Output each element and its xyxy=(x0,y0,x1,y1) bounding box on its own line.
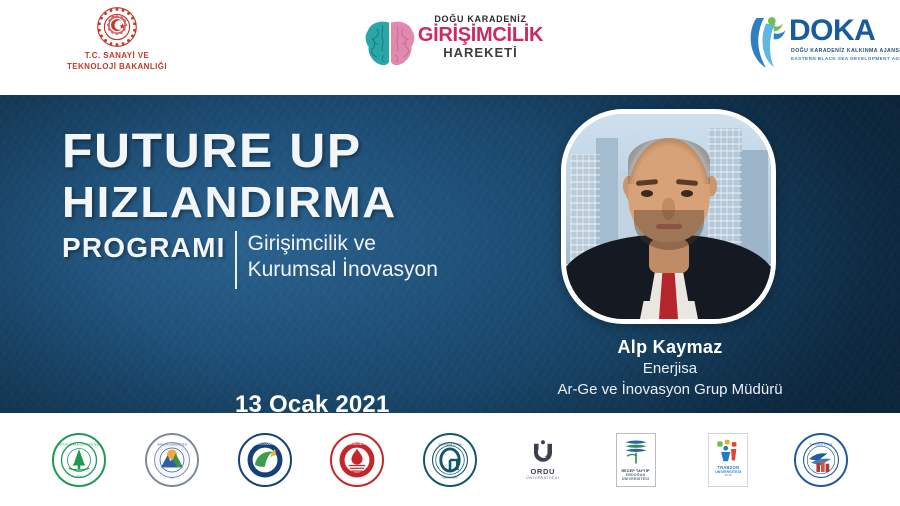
speaker-hairline xyxy=(628,138,710,184)
ordu-logo-stack: ORDU ÜNİVERSİTESİ xyxy=(526,439,559,481)
svg-text:GÜMÜŞHANE ÜNİ.: GÜMÜŞHANE ÜNİ. xyxy=(347,442,368,445)
event-details: 13 Ocak 2021 16:00-17:00 Başvuru: bit.ly… xyxy=(235,391,390,413)
speaker-eye-left xyxy=(641,190,653,197)
headline-line-1: FUTURE UP xyxy=(62,128,509,175)
seal-ring: AVRASYA ÜNİVERSİTESİ 2010 xyxy=(145,433,199,487)
event-banner: FUTURE UP HIZLANDIRMA PROGRAMI Girişimci… xyxy=(0,95,900,413)
ministry-logo: T.C. SANAYİ VE TEKNOLOJİ BAKANLIĞI xyxy=(42,6,192,90)
seal-ring: ARTVİN ÇORUH ÜNİVERSİTESİ 2007 xyxy=(52,433,106,487)
speaker-photo xyxy=(566,114,771,319)
logo-avrasya-universitesi: AVRASYA ÜNİVERSİTESİ 2010 xyxy=(141,429,203,491)
logo-artvin-coruh-universitesi: ARTVİN ÇORUH ÜNİVERSİTESİ 2007 xyxy=(48,429,110,491)
speaker-eye-right xyxy=(681,190,693,197)
speaker-mouth xyxy=(656,224,682,229)
rteu-line2: ERDOĞAN ÜNİVERSİTESİ xyxy=(617,473,655,482)
doka-logo: DOKA DOĞU KARADENİZ KALKINMA AJANSI EAST… xyxy=(745,12,885,78)
svg-text:ÜNİVERSİTESİ: ÜNİVERSİTESİ xyxy=(443,476,458,479)
partner-logos-strip: ARTVİN ÇORUH ÜNİVERSİTESİ 2007 AVRASYA Ü… xyxy=(0,413,900,506)
wave-torch-icon xyxy=(622,438,650,466)
seal-ring: GİRESUN ÜNİVERSİTESİ 2006 xyxy=(238,433,292,487)
program-subtitle-row: PROGRAMI Girişimcilik ve Kurumsal İnovas… xyxy=(62,231,492,289)
logo-recep-tayyip-erdogan-universitesi: RECEP TAYYİP ERDOĞAN ÜNİVERSİTESİ xyxy=(605,429,667,491)
logo-gumushane-universitesi: GÜMÜŞHANE ÜNİ. 2008 xyxy=(326,429,388,491)
headline-line-2: HIZLANDIRMA xyxy=(62,181,509,224)
svg-text:2008: 2008 xyxy=(355,477,361,479)
svg-text:2007: 2007 xyxy=(76,475,82,478)
ministry-logo-text: T.C. SANAYİ VE TEKNOLOJİ BAKANLIĞI xyxy=(67,51,167,73)
u-crescent-icon xyxy=(528,439,558,465)
svg-text:GİRESUN ÜNİVERSİTESİ: GİRESUN ÜNİVERSİTESİ xyxy=(249,440,279,445)
speaker-title: Ar-Ge ve İnovasyon Grup Müdürü xyxy=(470,380,870,400)
logo-ordu-universitesi: ORDU ÜNİVERSİTESİ xyxy=(512,429,574,491)
speaker-organization: Enerjisa xyxy=(470,359,870,379)
movement-wordmark: DOĞU KARADENİZ GİRİŞİMCİLİK HAREKETİ xyxy=(408,14,553,59)
logo-karadeniz-teknik-universitesi-alt: KARADENİZ TEKNİK xyxy=(790,429,852,491)
seal-ring: GÜMÜŞHANE ÜNİ. 2008 xyxy=(330,433,384,487)
svg-text:AVRASYA ÜNİVERSİTESİ: AVRASYA ÜNİVERSİTESİ xyxy=(157,441,187,446)
top-header-bar: T.C. SANAYİ VE TEKNOLOJİ BAKANLIĞI xyxy=(0,0,900,95)
vertical-divider xyxy=(235,231,237,289)
headline-line-3: PROGRAMI xyxy=(62,231,226,262)
doka-subtitle-tr: DOĞU KARADENİZ KALKINMA AJANSI xyxy=(791,48,900,54)
svg-text:KARADENİZ TEKNİK: KARADENİZ TEKNİK xyxy=(810,443,833,446)
subtitle-line-2: Kurumsal İnovasyon xyxy=(248,257,438,283)
headline-block: FUTURE UP HIZLANDIRMA PROGRAMI Girişimci… xyxy=(62,128,492,289)
logo-karadeniz-teknik-universitesi: KARADENİZ TEKNİK ÜNİVERSİTESİ xyxy=(419,429,481,491)
movement-line2: GİRİŞİMCİLİK xyxy=(408,25,553,45)
ordu-subtitle: ÜNİVERSİTESİ xyxy=(526,476,559,480)
doka-subtitle-en: EASTERN BLACK SEA DEVELOPMENT AGENCY xyxy=(791,56,900,61)
plate-frame: RECEP TAYYİP ERDOĞAN ÜNİVERSİTESİ xyxy=(616,433,656,487)
seal-ring: KARADENİZ TEKNİK ÜNİVERSİTESİ xyxy=(423,433,477,487)
trabzon-year: 2018 xyxy=(725,474,732,477)
svg-text:KARADENİZ TEKNİK: KARADENİZ TEKNİK xyxy=(439,443,462,446)
gear-crescent-icon xyxy=(96,6,138,48)
subtitle-line-1: Girişimcilik ve xyxy=(248,231,438,257)
speaker-caption: Alp Kaymaz Enerjisa Ar-Ge ve İnovasyon G… xyxy=(470,335,870,400)
logo-trabzon-universitesi: TRABZON ÜNİVERSİTESİ 2018 xyxy=(697,429,759,491)
movement-line3: HAREKETİ xyxy=(408,46,553,59)
logo-giresun-universitesi: GİRESUN ÜNİVERSİTESİ 2006 xyxy=(234,429,296,491)
subtitle-block: Girişimcilik ve Kurumsal İnovasyon xyxy=(248,231,438,282)
svg-text:2010: 2010 xyxy=(169,477,175,479)
doka-wordmark: DOKA xyxy=(789,16,875,46)
svg-text:2006: 2006 xyxy=(262,477,268,479)
movement-line1: DOĞU KARADENİZ xyxy=(408,14,553,24)
movement-logo: DOĞU KARADENİZ GİRİŞİMCİLİK HAREKETİ xyxy=(360,6,550,86)
doka-figure-icon xyxy=(745,14,791,70)
speaker-photo-frame xyxy=(561,109,776,324)
event-date: 13 Ocak 2021 xyxy=(235,391,390,413)
plate-frame: TRABZON ÜNİVERSİTESİ 2018 xyxy=(708,433,748,487)
figure-mosaic-icon xyxy=(715,438,741,463)
speaker-name: Alp Kaymaz xyxy=(470,335,870,359)
ordu-wordmark: ORDU xyxy=(531,467,555,476)
seal-ring: KARADENİZ TEKNİK xyxy=(794,433,848,487)
